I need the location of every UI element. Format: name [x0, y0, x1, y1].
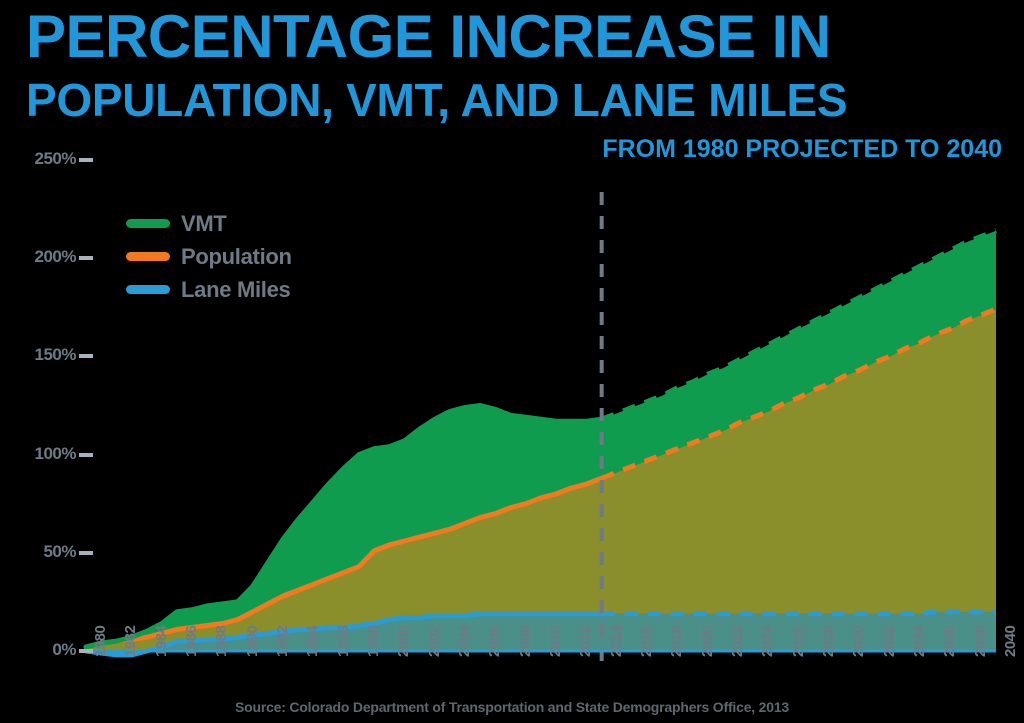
x-axis-tick-label: 1984: [153, 626, 170, 657]
y-axis-tick-mark: [79, 256, 93, 260]
y-axis-tick-label: 150%: [14, 345, 76, 365]
y-axis-tick-mark: [79, 354, 93, 358]
x-axis-tick-label: 2008: [517, 626, 534, 657]
y-axis-tick-mark: [79, 551, 93, 555]
x-axis-tick-label: 1986: [183, 626, 200, 657]
y-axis-tick-label: 200%: [14, 247, 76, 267]
x-axis-tick-label: 2026: [790, 626, 807, 657]
x-axis-tick-label: 2002: [426, 626, 443, 657]
y-axis-tick-mark: [79, 453, 93, 457]
y-axis-tick-label: 0%: [14, 640, 76, 660]
x-axis-tick-label: 2014: [608, 626, 625, 657]
x-axis-tick-label: 2030: [850, 626, 867, 657]
x-axis-tick-label: 2016: [638, 626, 655, 657]
legend-swatch-icon: [126, 285, 170, 294]
legend-item-vmt[interactable]: VMT: [126, 207, 292, 240]
x-axis-tick-label: 2036: [941, 626, 958, 657]
source-note: Source: Colorado Department of Transport…: [0, 699, 1024, 715]
legend-item-label: Lane Miles: [181, 277, 290, 303]
legend-item-label: VMT: [181, 211, 227, 237]
y-axis-tick-label: 100%: [14, 444, 76, 464]
x-axis-tick-label: 2038: [972, 626, 989, 657]
x-axis-tick-label: 1992: [274, 626, 291, 657]
y-axis-tick-mark: [79, 649, 93, 653]
x-axis-tick-label: 1994: [304, 626, 321, 657]
x-axis-tick-label: 2010: [547, 626, 564, 657]
plot-area: 0%50%100%150%200%250% 198019821984198619…: [0, 0, 1024, 723]
x-axis-tick-label: 2034: [911, 626, 928, 657]
x-axis-tick-label: 2022: [729, 626, 746, 657]
legend-item-lane-miles[interactable]: Lane Miles: [126, 273, 292, 306]
x-axis-tick-label: 2032: [881, 626, 898, 657]
x-axis-tick-label: 2040: [1002, 626, 1019, 657]
x-axis-tick-label: 2028: [820, 626, 837, 657]
x-axis-tick-label: 2006: [486, 626, 503, 657]
x-axis-tick-label: 1982: [122, 626, 139, 657]
chart-svg: [0, 0, 1024, 723]
chart-container: PERCENTAGE INCREASE IN POPULATION, VMT, …: [0, 0, 1024, 723]
legend-swatch-icon: [126, 219, 170, 228]
chart-legend: VMTPopulationLane Miles: [126, 207, 292, 306]
legend-item-label: Population: [181, 244, 292, 270]
x-axis-tick-label: 1990: [244, 626, 261, 657]
x-axis-tick-label: 2020: [699, 626, 716, 657]
x-axis-tick-label: 1988: [213, 626, 230, 657]
x-axis-tick-label: 2012: [577, 626, 594, 657]
x-axis-tick-label: 2000: [395, 626, 412, 657]
x-axis-tick-label: 2024: [759, 626, 776, 657]
y-axis-tick-mark: [79, 158, 93, 162]
y-axis-tick-label: 50%: [14, 542, 76, 562]
y-axis-tick-label: 250%: [14, 149, 76, 169]
x-axis-tick-label: 1998: [365, 626, 382, 657]
legend-item-population[interactable]: Population: [126, 240, 292, 273]
x-axis-tick-label: 2018: [668, 626, 685, 657]
x-axis-tick-label: 1980: [92, 626, 109, 657]
x-axis-tick-label: 2004: [456, 626, 473, 657]
legend-swatch-icon: [126, 252, 170, 261]
x-axis-tick-label: 1996: [335, 626, 352, 657]
